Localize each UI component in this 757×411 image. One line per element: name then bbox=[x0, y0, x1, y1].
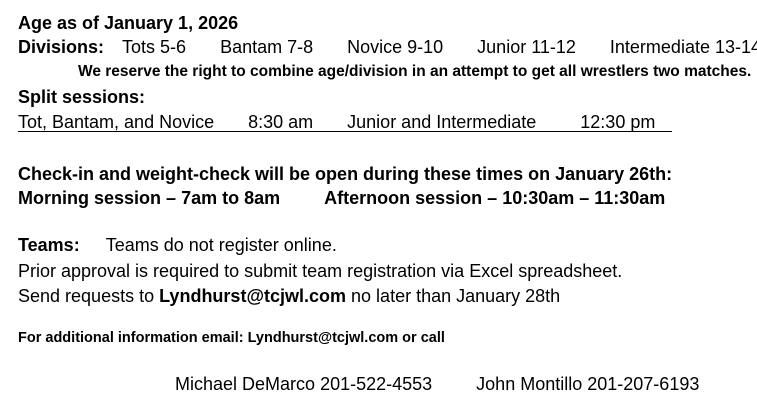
session-times-line: Morning session – 7am to 8amAfternoon se… bbox=[18, 189, 665, 207]
split-sessions-underline bbox=[18, 131, 672, 132]
division-intermediate: Intermediate 13-14 bbox=[610, 37, 757, 57]
contacts-line: Michael DeMarco 201-522-4553John Montill… bbox=[175, 375, 699, 393]
split-sessions-header: Split sessions: bbox=[18, 88, 145, 106]
morning-session-label: Morning session bbox=[18, 188, 161, 208]
split-session-2-time: 12:30 pm bbox=[580, 112, 655, 132]
contact-2-name: John Montillo bbox=[476, 374, 582, 394]
contact-1-name: Michael DeMarco bbox=[175, 374, 315, 394]
checkin-header: Check-in and weight-check will be open d… bbox=[18, 165, 672, 183]
teams-line: Teams:Teams do not register online. bbox=[18, 236, 337, 254]
teams-label: Teams: bbox=[18, 235, 80, 255]
prior-approval-note: Prior approval is required to submit tea… bbox=[18, 262, 622, 280]
send-requests-prefix: Send requests to bbox=[18, 286, 154, 306]
send-requests-suffix: no later than January 28th bbox=[351, 286, 560, 306]
contact-1-phone: 201-522-4553 bbox=[320, 374, 432, 394]
morning-session-dash: – bbox=[166, 188, 176, 208]
flyer-document: Age as of January 1, 2026 Divisions:Tots… bbox=[0, 0, 757, 411]
send-requests-line: Send requests to Lyndhurst@tcjwl.com no … bbox=[18, 287, 560, 305]
morning-session-time: 7am to 8am bbox=[181, 188, 280, 208]
split-session-1-divisions: Tot, Bantam, and Novice bbox=[18, 112, 214, 132]
division-tots: Tots 5-6 bbox=[122, 37, 186, 57]
age-rule-line: Age as of January 1, 2026 bbox=[18, 14, 238, 32]
split-sessions-times-line: Tot, Bantam, and Novice8:30 amJunior and… bbox=[18, 113, 655, 131]
afternoon-session-time: 10:30am – 11:30am bbox=[502, 188, 665, 208]
division-novice: Novice 9-10 bbox=[347, 37, 443, 57]
division-bantam: Bantam 7-8 bbox=[220, 37, 313, 57]
teams-note: Teams do not register online. bbox=[106, 235, 337, 255]
division-junior: Junior 11-12 bbox=[477, 37, 576, 57]
split-session-2-divisions: Junior and Intermediate bbox=[347, 112, 536, 132]
additional-info-line: For additional information email: Lyndhu… bbox=[18, 331, 445, 346]
divisions-label: Divisions: bbox=[18, 37, 104, 57]
afternoon-session-dash: – bbox=[487, 188, 497, 208]
age-division-disclaimer: We reserve the right to combine age/divi… bbox=[78, 64, 751, 80]
afternoon-session-label: Afternoon session bbox=[324, 188, 482, 208]
send-requests-email: Lyndhurst@tcjwl.com bbox=[159, 286, 346, 306]
split-session-1-time: 8:30 am bbox=[248, 112, 313, 132]
divisions-line: Divisions:Tots 5-6Bantam 7-8Novice 9-10J… bbox=[18, 38, 757, 56]
contact-2-phone: 201-207-6193 bbox=[587, 374, 699, 394]
